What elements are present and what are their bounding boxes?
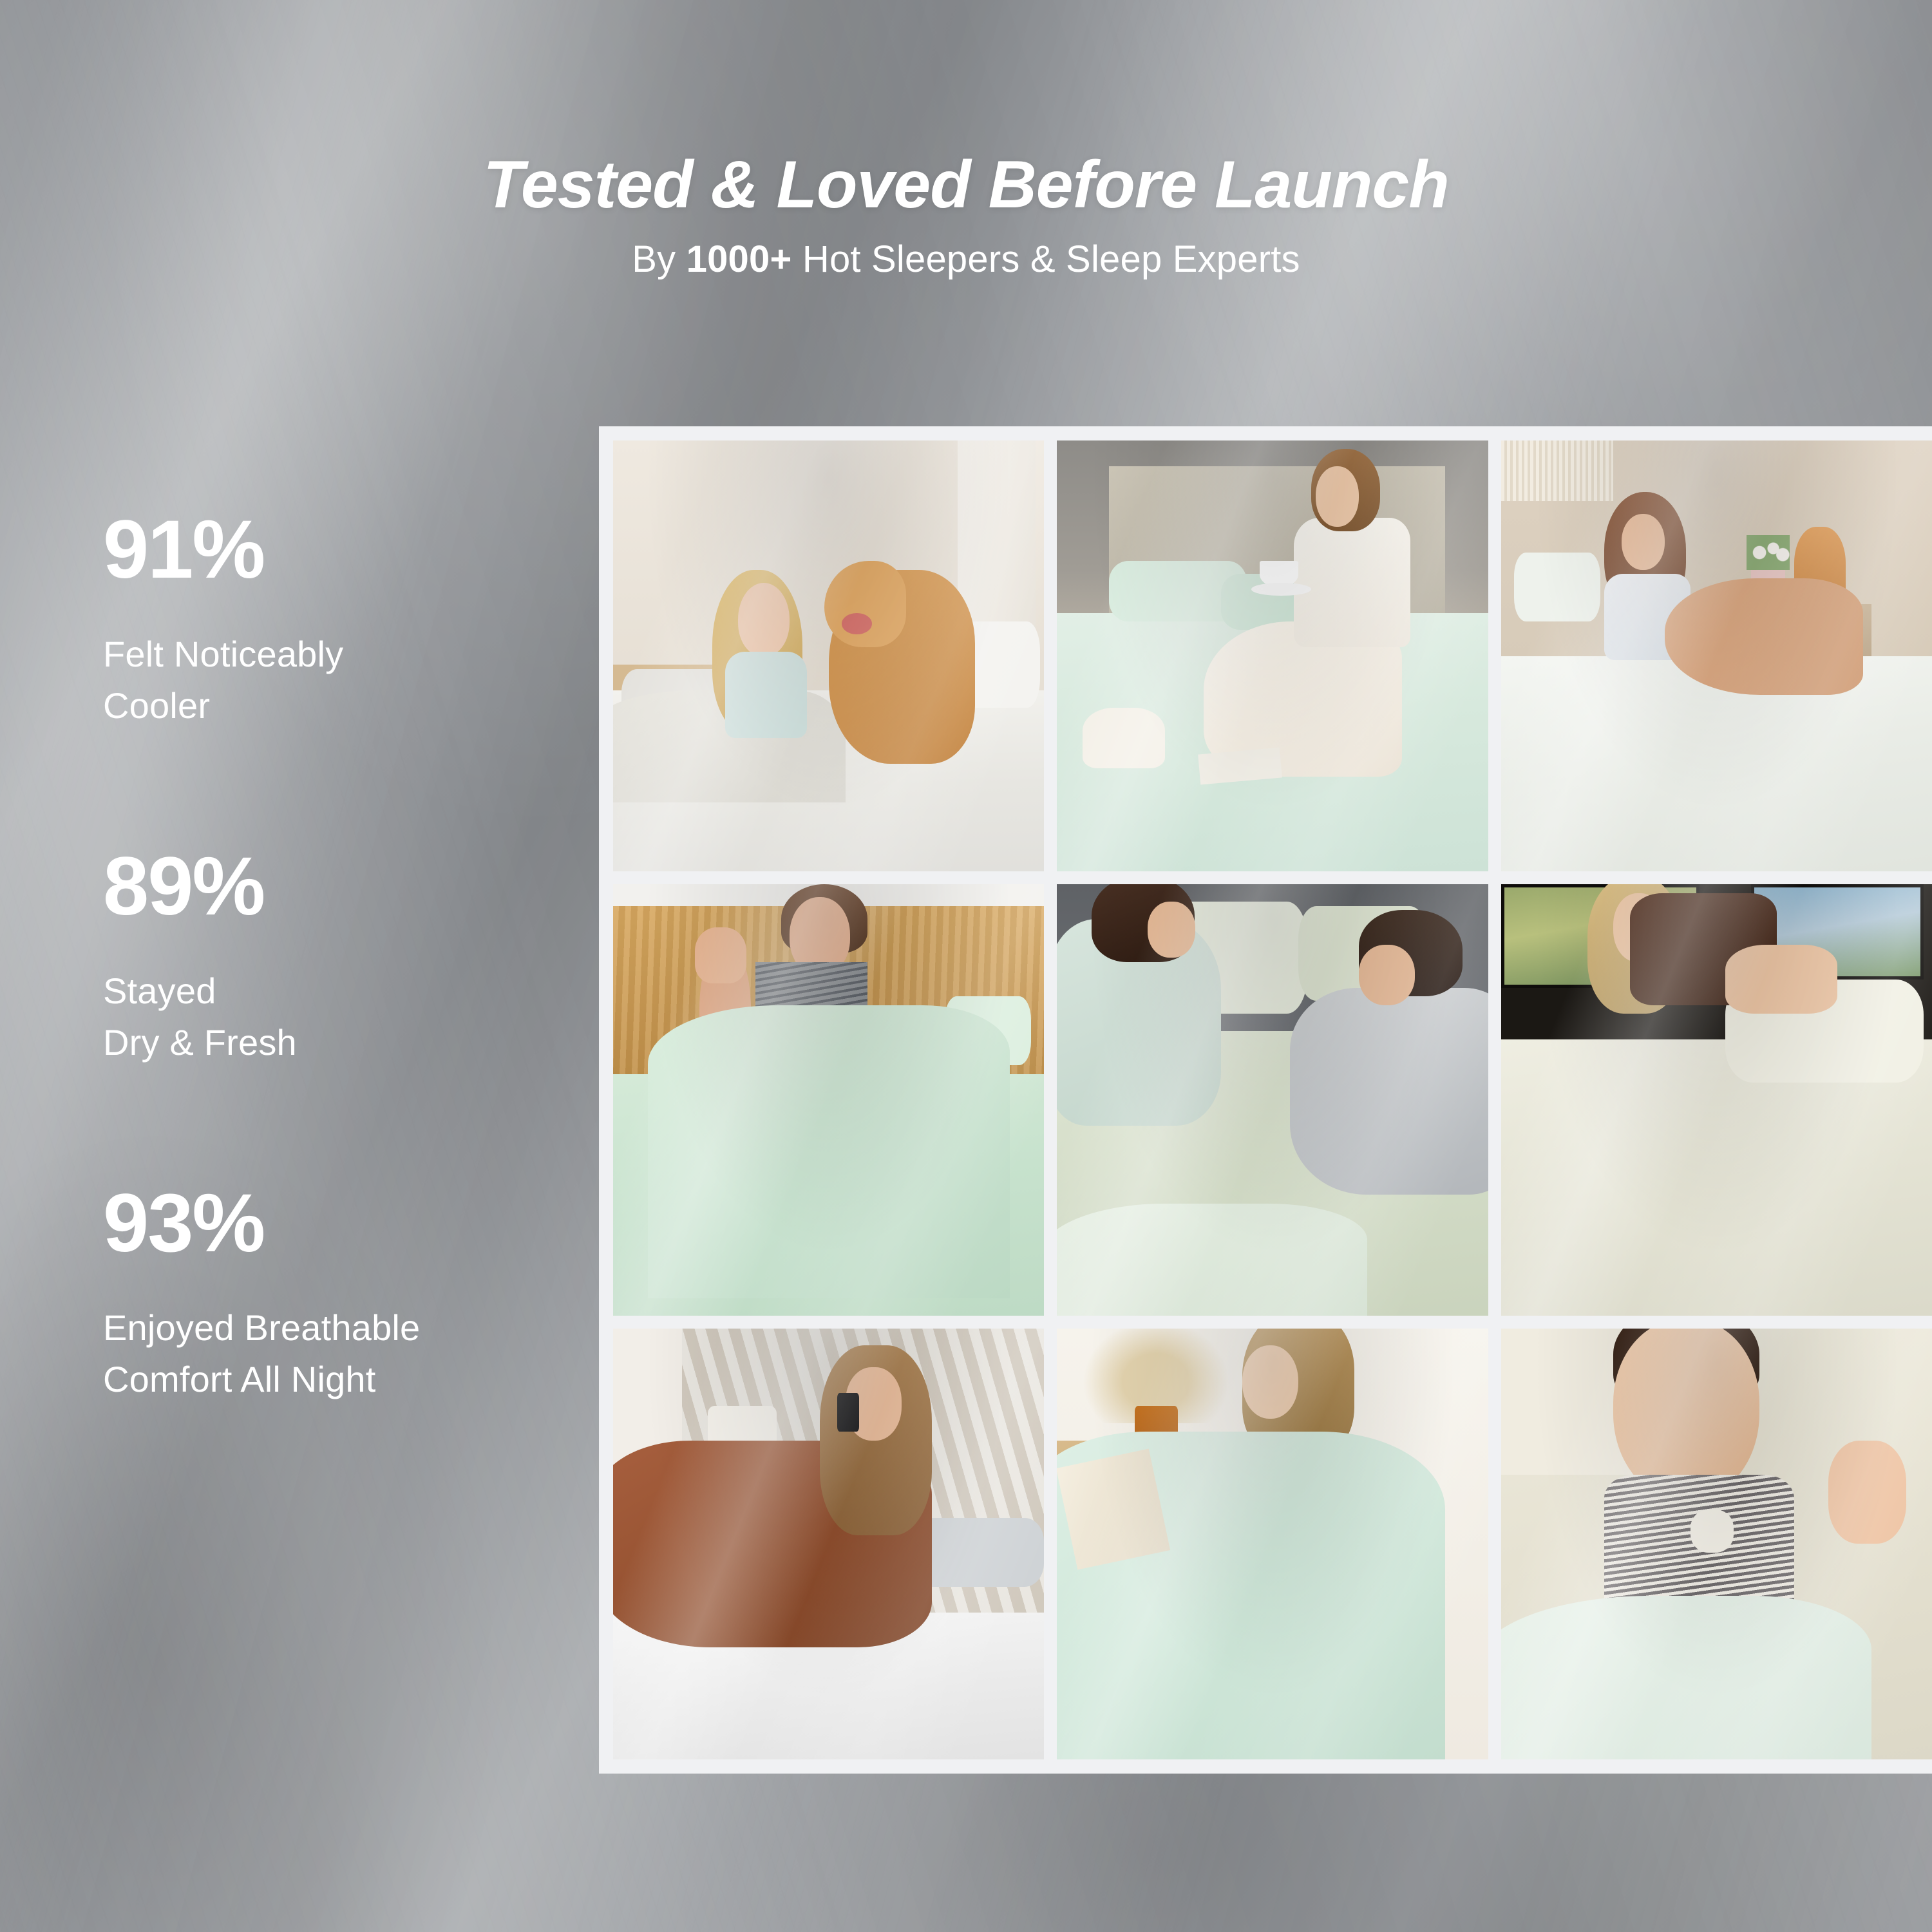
stat-label: Felt Noticeably Cooler	[103, 629, 580, 731]
stats-column: 91% Felt Noticeably Cooler 89% Stayed Dr…	[103, 509, 580, 1405]
collage-photo	[1057, 440, 1488, 871]
collage-photo	[1501, 440, 1932, 871]
stat-value: 91%	[103, 509, 580, 591]
collage-photo	[613, 884, 1044, 1315]
collage-photo	[613, 440, 1044, 871]
subtitle-suffix: Hot Sleepers & Sleep Experts	[792, 238, 1300, 280]
stat-label-line: Comfort All Night	[103, 1354, 580, 1405]
photo-collage	[599, 426, 1932, 1774]
collage-photo	[1501, 884, 1932, 1315]
page-title: Tested & Loved Before Launch	[0, 149, 1932, 220]
collage-grid	[613, 440, 1932, 1759]
stat-label-line: Felt Noticeably	[103, 629, 580, 680]
collage-photo	[1057, 1329, 1488, 1759]
collage-photo	[1057, 884, 1488, 1315]
subtitle-prefix: By	[632, 238, 686, 280]
promo-graphic: Tested & Loved Before Launch By 1000+ Ho…	[0, 0, 1932, 1932]
subtitle-count: 1000+	[687, 238, 792, 280]
stat-label-line: Dry & Fresh	[103, 1017, 580, 1068]
stat-label: Enjoyed Breathable Comfort All Night	[103, 1302, 580, 1405]
stat-label: Stayed Dry & Fresh	[103, 965, 580, 1068]
stat-value: 93%	[103, 1182, 580, 1265]
stat-label-line: Cooler	[103, 680, 580, 732]
stat-block-cooler: 91% Felt Noticeably Cooler	[103, 509, 580, 731]
stat-label-line: Stayed	[103, 965, 580, 1017]
collage-photo	[613, 1329, 1044, 1759]
stat-value: 89%	[103, 846, 580, 928]
collage-photo	[1501, 1329, 1932, 1759]
stat-block-dry-fresh: 89% Stayed Dry & Fresh	[103, 846, 580, 1068]
page-subtitle: By 1000+ Hot Sleepers & Sleep Experts	[0, 237, 1932, 282]
header: Tested & Loved Before Launch By 1000+ Ho…	[0, 149, 1932, 282]
stat-block-breathable: 93% Enjoyed Breathable Comfort All Night	[103, 1182, 580, 1405]
stat-label-line: Enjoyed Breathable	[103, 1302, 580, 1354]
